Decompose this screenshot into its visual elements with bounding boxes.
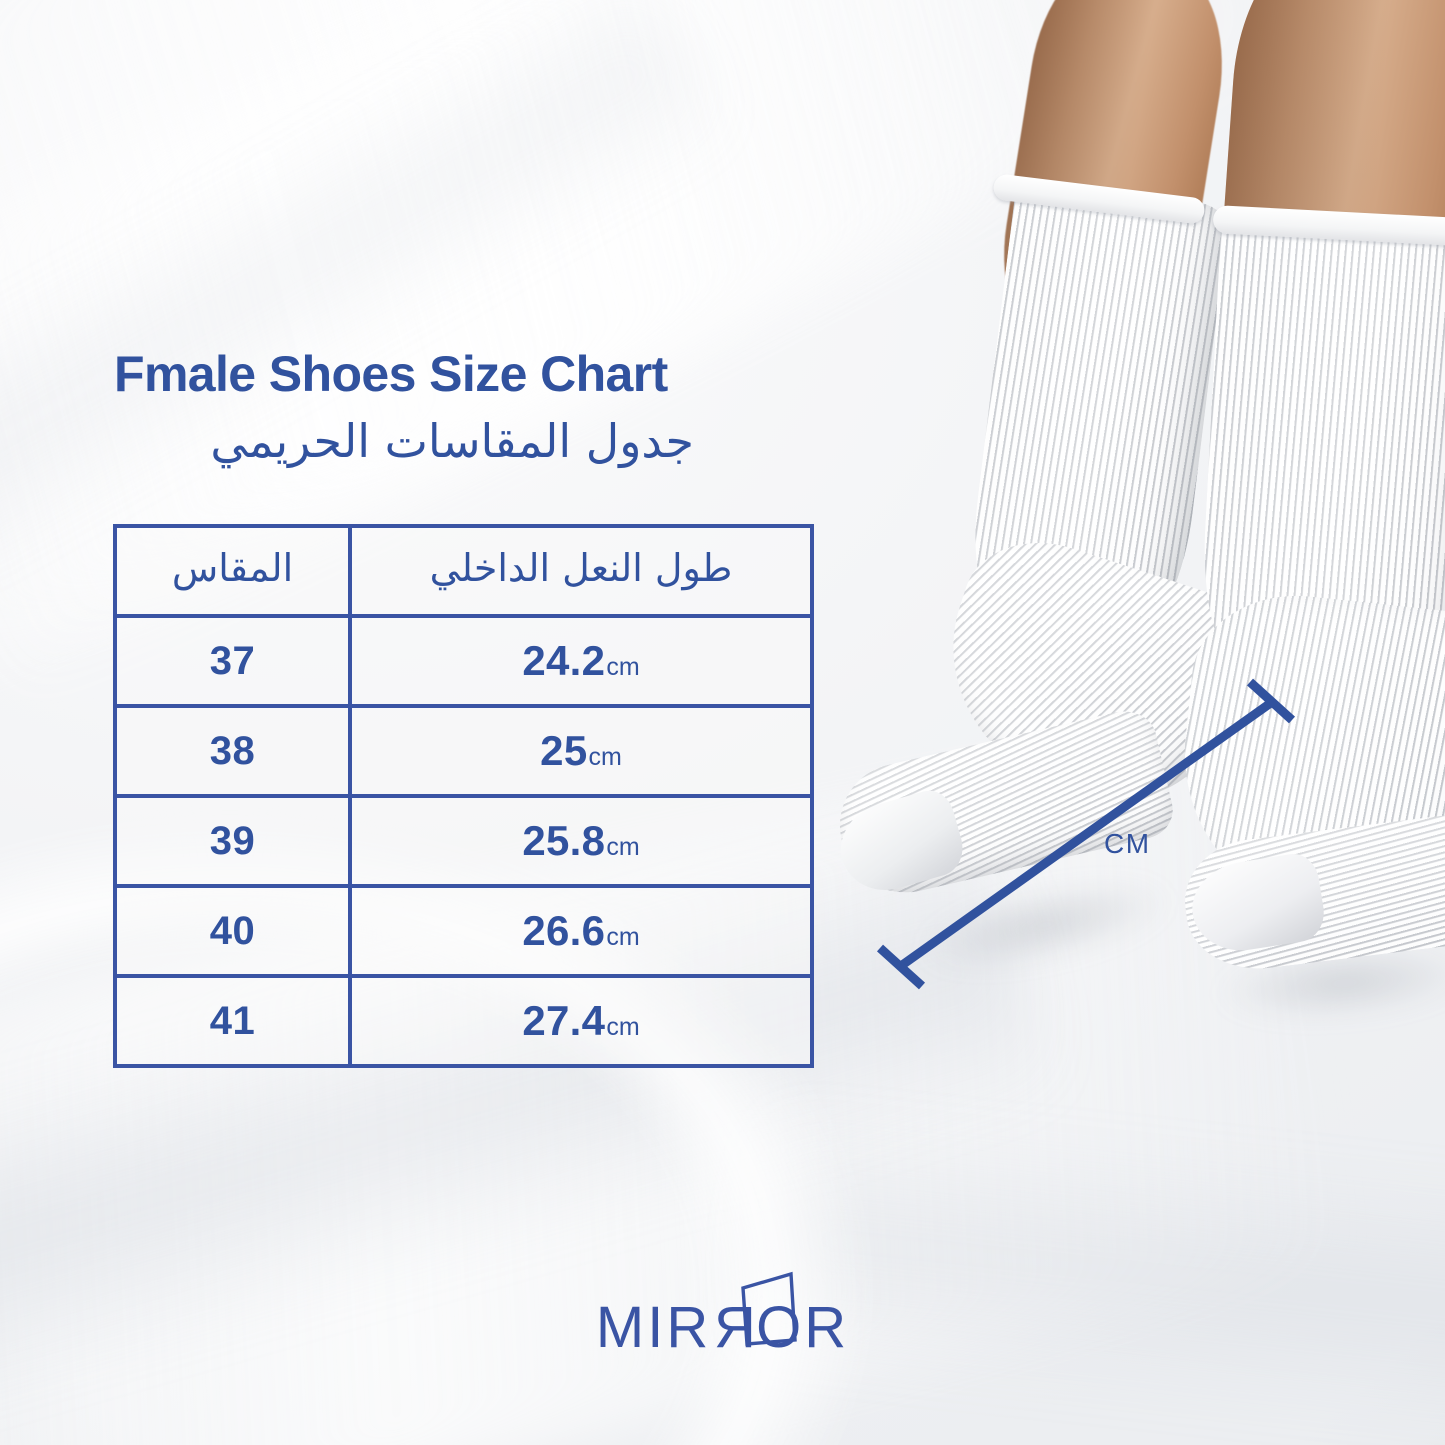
page-title-english: Fmale Shoes Size Chart: [114, 345, 668, 403]
table-row: 41 27.4cm: [115, 976, 812, 1066]
table-row: 38 25cm: [115, 706, 812, 796]
cell-size: 37: [115, 616, 350, 706]
cell-length: 24.2cm: [350, 616, 812, 706]
brand-logo-text: MIRROR: [596, 1288, 849, 1368]
column-header-insole-length: طول النعل الداخلي: [350, 526, 812, 616]
logo-text-mirrored-r: R: [711, 1288, 756, 1368]
length-unit: cm: [606, 653, 639, 681]
length-unit: cm: [606, 1013, 639, 1041]
table-row: 39 25.8cm: [115, 796, 812, 886]
page-title-arabic: جدول المقاسات الحريمي: [114, 414, 694, 468]
cell-length: 25cm: [350, 706, 812, 796]
measure-label-cm: CM: [1104, 828, 1151, 860]
length-unit: cm: [589, 743, 622, 771]
length-value: 25.8: [522, 817, 605, 864]
size-chart-table: المقاس طول النعل الداخلي 37 24.2cm 38 25…: [113, 524, 814, 1068]
cell-size: 40: [115, 886, 350, 976]
length-unit: cm: [606, 833, 639, 861]
length-value: 24.2: [522, 637, 605, 684]
table-header-row: المقاس طول النعل الداخلي: [115, 526, 812, 616]
table-row: 37 24.2cm: [115, 616, 812, 706]
size-chart-canvas: Fmale Shoes Size Chart جدول المقاسات الح…: [0, 0, 1445, 1445]
brand-logo: MIRROR: [0, 1288, 1445, 1368]
cell-size: 38: [115, 706, 350, 796]
logo-text-part1: MIR: [596, 1295, 711, 1360]
length-value: 26.6: [522, 907, 605, 954]
length-unit: cm: [606, 923, 639, 951]
logo-text-part3: OR: [756, 1295, 849, 1360]
cell-size: 39: [115, 796, 350, 886]
cell-size: 41: [115, 976, 350, 1066]
length-value: 25: [540, 727, 587, 774]
cell-length: 27.4cm: [350, 976, 812, 1066]
table-row: 40 26.6cm: [115, 886, 812, 976]
column-header-size: المقاس: [115, 526, 350, 616]
cell-length: 25.8cm: [350, 796, 812, 886]
cell-length: 26.6cm: [350, 886, 812, 976]
length-value: 27.4: [522, 997, 605, 1044]
